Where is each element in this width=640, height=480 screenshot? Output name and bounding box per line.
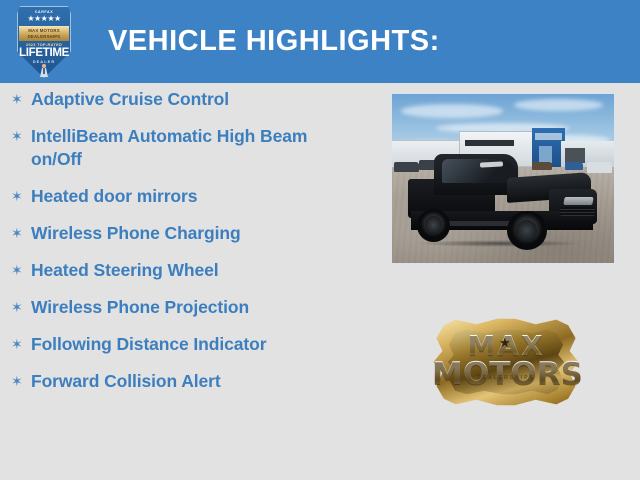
truck-window-reflection	[480, 161, 503, 167]
highlight-label: Wireless Phone Charging	[31, 222, 241, 245]
highlight-label: Forward Collision Alert	[31, 370, 221, 393]
vehicle-photo-image	[392, 94, 614, 263]
logo-tagline: DEALERSHIPS	[432, 375, 580, 381]
badge-award-label: LIFETIME	[17, 47, 71, 59]
list-item: ✶ Following Distance Indicator	[0, 333, 360, 356]
photo-dealership-sign	[465, 140, 514, 147]
star-bullet-icon: ✶	[9, 370, 31, 392]
logo-star-icon: ★	[499, 336, 511, 349]
photo-cloud	[401, 104, 503, 118]
badge-dealer-band: MAX MOTORS DEALERSHIPS	[19, 26, 69, 41]
carfax-award-badge: CARFAX ★★★★★ MAX MOTORS DEALERSHIPS 2023…	[17, 6, 71, 78]
highlight-label: Wireless Phone Projection	[31, 296, 249, 319]
star-bullet-icon: ✶	[9, 296, 31, 318]
highlight-label: Following Distance Indicator	[31, 333, 266, 356]
truck-windows	[442, 159, 515, 184]
page-title: VEHICLE HIGHLIGHTS:	[108, 24, 440, 58]
dealer-logo[interactable]: MAX ★ MOTORS DEALERSHIPS	[432, 316, 580, 408]
star-bullet-icon: ✶	[9, 185, 31, 207]
truck-grille	[560, 207, 594, 217]
list-item: ✶ Forward Collision Alert	[0, 370, 360, 393]
photo-dealership-tower-sign	[535, 133, 562, 140]
star-bullet-icon: ✶	[9, 125, 31, 147]
badge-person-icon	[38, 64, 50, 78]
truck-headlight	[563, 197, 593, 205]
truck-rear-rim	[425, 216, 442, 234]
vehicle-highlights-list: ✶ Adaptive Cruise Control ✶ IntelliBeam …	[0, 88, 360, 407]
highlight-label: IntelliBeam Automatic High Beam on/Off	[31, 125, 331, 171]
list-item: ✶ Wireless Phone Projection	[0, 296, 360, 319]
truck-rear-wheel	[417, 209, 449, 242]
star-bullet-icon: ✶	[9, 333, 31, 355]
badge-dealer-line2: DEALERSHIPS	[19, 34, 69, 40]
star-bullet-icon: ✶	[9, 222, 31, 244]
highlight-label: Heated door mirrors	[31, 185, 197, 208]
badge-stars-icon: ★★★★★	[17, 15, 71, 23]
highlight-label: Adaptive Cruise Control	[31, 88, 229, 111]
list-item: ✶ IntelliBeam Automatic High Beam on/Off	[0, 125, 360, 171]
photo-cloud	[514, 99, 603, 111]
list-item: ✶ Heated door mirrors	[0, 185, 360, 208]
truck-front-rim	[516, 220, 537, 241]
truck-front-wheel	[507, 211, 547, 250]
photo-featured-truck	[408, 150, 599, 248]
truck-shadow	[415, 240, 583, 247]
vehicle-photo[interactable]	[388, 90, 618, 267]
badge-person-tie	[43, 68, 45, 74]
highlight-label: Heated Steering Wheel	[31, 259, 219, 282]
list-item: ✶ Heated Steering Wheel	[0, 259, 360, 282]
list-item: ✶ Adaptive Cruise Control	[0, 88, 360, 111]
list-item: ✶ Wireless Phone Charging	[0, 222, 360, 245]
star-bullet-icon: ✶	[9, 259, 31, 281]
star-bullet-icon: ✶	[9, 88, 31, 110]
